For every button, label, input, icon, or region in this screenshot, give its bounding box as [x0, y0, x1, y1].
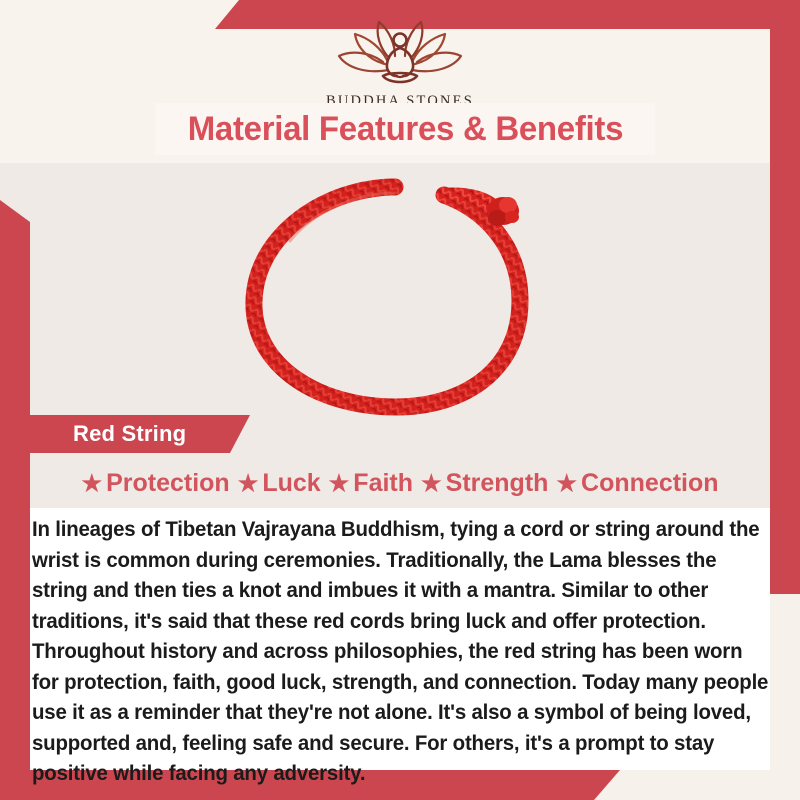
product-label-banner: Red String: [30, 415, 250, 453]
benefit-label: Protection: [106, 469, 230, 498]
star-icon: ★: [556, 472, 577, 495]
star-icon: ★: [421, 472, 442, 495]
benefit-item-luck: ★ Luck: [234, 469, 325, 498]
lotus-meditation-logo-icon: [325, 14, 475, 90]
decor-bar-left: [0, 200, 30, 510]
page-title: Material Features & Benefits: [187, 110, 622, 149]
benefit-label: Faith: [353, 469, 413, 498]
star-icon: ★: [81, 472, 102, 495]
infographic-page: BUDDHA STONES Material Features & Benefi…: [0, 0, 800, 800]
benefits-list: ★ Protection ★ Luck ★ Faith ★ Strength ★…: [30, 462, 770, 504]
benefit-item-protection: ★ Protection: [77, 469, 233, 498]
benefit-label: Connection: [581, 469, 719, 498]
star-icon: ★: [238, 472, 259, 495]
decor-bar-left-lower: [0, 505, 30, 770]
benefit-item-strength: ★ Strength: [417, 469, 552, 498]
headline-banner: Material Features & Benefits: [155, 103, 655, 155]
benefit-item-faith: ★ Faith: [325, 469, 417, 498]
decor-bar-right: [770, 29, 800, 594]
description-panel: In lineages of Tibetan Vajrayana Buddhis…: [30, 508, 770, 770]
brand-logo: BUDDHA STONES: [0, 14, 800, 110]
description-text: In lineages of Tibetan Vajrayana Buddhis…: [32, 514, 768, 789]
star-icon: ★: [329, 472, 350, 495]
benefit-item-connection: ★ Connection: [552, 469, 722, 498]
product-image-area: [30, 163, 770, 413]
red-string-bracelet-image: [220, 171, 570, 419]
product-label: Red String: [73, 421, 186, 447]
benefit-label: Strength: [446, 469, 549, 498]
benefit-label: Luck: [262, 469, 320, 498]
